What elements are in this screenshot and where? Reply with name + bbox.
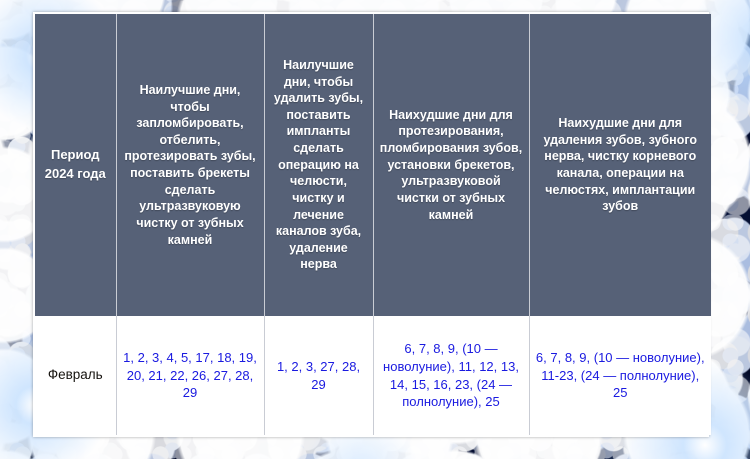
column-header-period: Период 2024 года — [35, 14, 116, 316]
table-header-row: Период 2024 года Наилучшие дни, чтобы за… — [35, 14, 711, 316]
cell-worst-prosthetics: 6, 7, 8, 9, (10 — новолуние), 11, 12, 13… — [373, 316, 529, 435]
lunar-calendar-table: Период 2024 года Наилучшие дни, чтобы за… — [35, 14, 711, 435]
page-root: Период 2024 года Наилучшие дни, чтобы за… — [0, 0, 750, 459]
column-header-best-extraction: Наилучшие дни, чтобы удалить зубы, поста… — [264, 14, 373, 316]
column-header-worst-extraction: Наихудшие дни для удаления зубов, зубног… — [529, 14, 711, 316]
cell-best-extraction: 1, 2, 3, 27, 28, 29 — [264, 316, 373, 435]
cell-worst-extraction: 6, 7, 8, 9, (10 — новолуние), 11-23, (24… — [529, 316, 711, 435]
lunar-calendar-table-container: Период 2024 года Наилучшие дни, чтобы за… — [33, 12, 709, 437]
cell-period: Февраль — [35, 316, 116, 435]
table-row: Февраль 1, 2, 3, 4, 5, 17, 18, 19, 20, 2… — [35, 316, 711, 435]
cell-best-filling: 1, 2, 3, 4, 5, 17, 18, 19, 20, 21, 22, 2… — [116, 316, 264, 435]
table-body: Февраль 1, 2, 3, 4, 5, 17, 18, 19, 20, 2… — [35, 316, 711, 435]
column-header-worst-prosthetics: Наихудшие дни для протезирования, пломби… — [373, 14, 529, 316]
table-header: Период 2024 года Наилучшие дни, чтобы за… — [35, 14, 711, 316]
column-header-best-filling: Наилучшие дни, чтобы запломбировать, отб… — [116, 14, 264, 316]
